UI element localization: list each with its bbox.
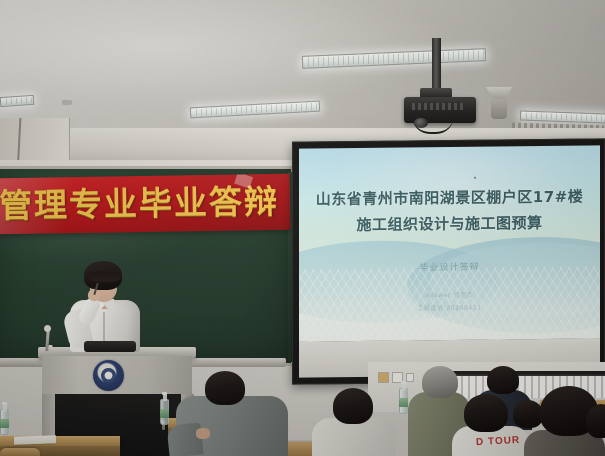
audience-member-arm (166, 422, 203, 456)
smoke-detector-icon (62, 100, 72, 105)
light-switch-icon[interactable] (378, 372, 389, 383)
audience-member-head (487, 366, 519, 394)
slide-meta: answer 代圣杰 工程造价 20200421 (299, 287, 600, 316)
tshirt-print-text: D TOUR (476, 435, 521, 448)
audience-member-hand (196, 428, 210, 439)
projector-mount-pole (432, 38, 441, 92)
audience-member-head (464, 394, 508, 432)
university-seal-icon (93, 360, 124, 391)
paper-sheet (14, 435, 56, 444)
slide-dot-artifact (474, 177, 476, 179)
audience-member-head (586, 404, 605, 438)
audience-member-head (205, 371, 245, 405)
audience-member-head (333, 388, 373, 424)
wall-switch-panel[interactable] (378, 372, 422, 383)
projected-slide: 山东省青州市南阳湖景区棚户区17#楼 施工组织设计与施工图预算 毕业设计答辩 a… (299, 145, 600, 341)
lecture-room-photo: 管理专业毕业答辩 山东省青州市南阳湖景区棚户区17#楼 施工组织设计与施工图预算… (0, 0, 605, 456)
presenter-hair-fringe (88, 271, 121, 282)
audience-member-head (422, 366, 458, 398)
slide-title-line-1: 山东省青州市南阳湖景区棚户区17#楼 (299, 183, 600, 212)
slide-title: 山东省青州市南阳湖景区棚户区17#楼 施工组织设计与施工图预算 (299, 183, 600, 238)
audience-member-head (513, 400, 543, 428)
defense-banner: 管理专业毕业答辩 (0, 174, 290, 235)
presenter-laptop-bag (84, 341, 136, 352)
power-outlet-icon[interactable] (406, 373, 414, 382)
chair-back (0, 448, 40, 456)
ceiling-speaker-body (491, 99, 507, 119)
projection-screen: 山东省青州市南阳湖景区棚户区17#楼 施工组织设计与施工图预算 毕业设计答辩 a… (292, 138, 605, 384)
slide-title-line-2: 施工组织设计与施工图预算 (299, 209, 600, 238)
microphone-icon (44, 325, 51, 332)
